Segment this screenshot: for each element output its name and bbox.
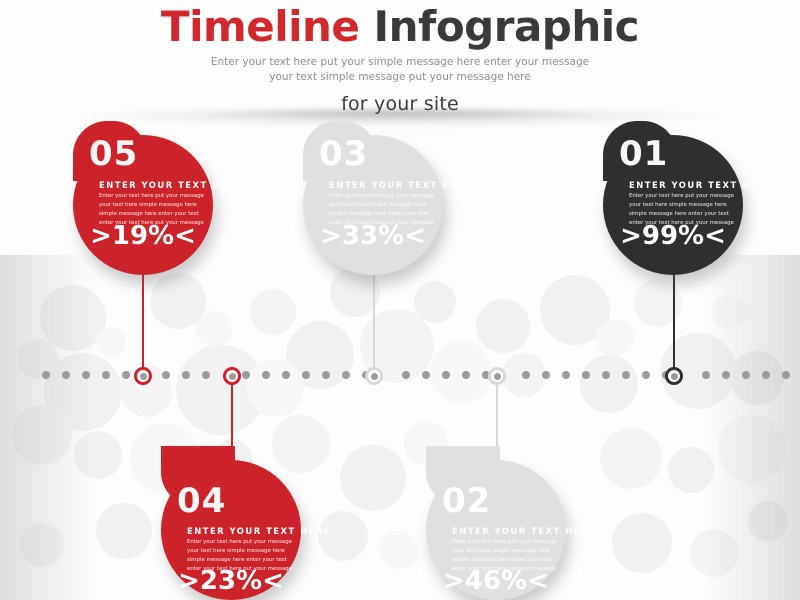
body-line-1: Enter your text here put your message xyxy=(452,538,562,547)
step-bubble-05[interactable]: 05 ENTER YOUR TEXT HERE Enter your text … xyxy=(73,135,213,275)
background-bokeh-pattern xyxy=(0,255,800,600)
timeline-dot xyxy=(202,371,210,379)
connector-line-01 xyxy=(673,270,675,376)
body-line-1: Enter your text here put your message xyxy=(329,192,439,201)
timeline-dot xyxy=(262,371,270,379)
step-percent: >99%< xyxy=(603,223,743,249)
bubble-content: 02 ENTER YOUR TEXT HERE Enter your text … xyxy=(426,460,566,600)
timeline-dot xyxy=(282,371,290,379)
body-line-2: your text here simple message here xyxy=(452,547,562,556)
timeline-marker-01[interactable] xyxy=(665,367,683,385)
step-number: 05 xyxy=(89,137,138,171)
header: Timeline Infographic Enter your text her… xyxy=(0,0,800,120)
timeline-dot xyxy=(122,371,130,379)
timeline-dot xyxy=(602,371,610,379)
timeline-dot xyxy=(722,371,730,379)
timeline-marker-02[interactable] xyxy=(488,367,506,385)
timeline-dot xyxy=(422,371,430,379)
timeline-dot xyxy=(442,371,450,379)
timeline-dot xyxy=(342,371,350,379)
body-line-2: your text here simple message here xyxy=(629,201,739,210)
timeline-dot xyxy=(522,371,530,379)
timeline-dot xyxy=(562,371,570,379)
body-line-3: simple message here enter your text xyxy=(452,556,562,565)
timeline-dot xyxy=(182,371,190,379)
timeline-dot xyxy=(742,371,750,379)
timeline-dot xyxy=(82,371,90,379)
timeline-dot xyxy=(642,371,650,379)
header-tagline: for your site xyxy=(0,93,800,115)
timeline-dot xyxy=(42,371,50,379)
timeline-dot xyxy=(62,371,70,379)
subtitle-line-1: Enter your text here put your simple mes… xyxy=(0,55,800,70)
infographic-canvas: Timeline Infographic Enter your text her… xyxy=(0,0,800,600)
subtitle-line-2: your text simple message put your messag… xyxy=(0,70,800,85)
timeline-dot xyxy=(162,371,170,379)
step-heading: ENTER YOUR TEXT HERE xyxy=(629,180,737,190)
step-heading: ENTER YOUR TEXT HERE xyxy=(329,180,437,190)
body-line-3: simple message here enter your text xyxy=(629,210,739,219)
body-line-1: Enter your text here put your message xyxy=(629,192,739,201)
step-percent: >46%< xyxy=(426,568,566,594)
step-heading: ENTER YOUR TEXT HERE xyxy=(452,526,560,536)
body-line-2: your text here simple message here xyxy=(99,201,209,210)
body-line-2: your text here simple message here xyxy=(187,547,297,556)
body-line-1: Enter your text here put your message xyxy=(187,538,297,547)
timeline-dot xyxy=(402,371,410,379)
title-word-timeline: Timeline xyxy=(161,2,359,51)
timeline-dot xyxy=(102,371,110,379)
timeline-dot xyxy=(462,371,470,379)
step-bubble-02[interactable]: 02 ENTER YOUR TEXT HERE Enter your text … xyxy=(426,460,566,600)
timeline-dot xyxy=(322,371,330,379)
step-number: 03 xyxy=(319,137,368,171)
body-line-2: your text here simple message here xyxy=(329,201,439,210)
body-line-3: simple message here enter your text xyxy=(99,210,209,219)
page-title: Timeline Infographic xyxy=(0,0,800,49)
title-word-infographic: Infographic xyxy=(374,2,640,51)
timeline-dot xyxy=(702,371,710,379)
timeline-marker-05[interactable] xyxy=(134,367,152,385)
timeline-dot xyxy=(762,371,770,379)
header-subtitle: Enter your text here put your simple mes… xyxy=(0,55,800,85)
step-number: 01 xyxy=(619,137,668,171)
body-line-1: Enter your text here put your message xyxy=(99,192,209,201)
right-edge-gradient xyxy=(705,255,800,600)
step-bubble-03[interactable]: 03 ENTER YOUR TEXT HERE Enter your text … xyxy=(303,135,443,275)
timeline-marker-04[interactable] xyxy=(223,367,241,385)
timeline-dot xyxy=(622,371,630,379)
step-number: 04 xyxy=(177,484,226,518)
connector-line-03 xyxy=(373,272,375,376)
step-percent: >23%< xyxy=(161,568,301,594)
body-line-3: simple message here enter your text xyxy=(187,556,297,565)
left-edge-gradient xyxy=(0,255,95,600)
timeline-marker-03[interactable] xyxy=(365,367,383,385)
bubble-content: 04 ENTER YOUR TEXT HERE Enter your text … xyxy=(161,460,301,600)
timeline-dot xyxy=(302,371,310,379)
step-heading: ENTER YOUR TEXT HERE xyxy=(187,526,295,536)
bubble-content: 05 ENTER YOUR TEXT HERE Enter your text … xyxy=(73,135,213,275)
step-bubble-01[interactable]: 01 ENTER YOUR TEXT HERE Enter your text … xyxy=(603,135,743,275)
body-line-3: simple message here enter your text xyxy=(329,210,439,219)
step-heading: ENTER YOUR TEXT HERE xyxy=(99,180,207,190)
bubble-content: 03 ENTER YOUR TEXT HERE Enter your text … xyxy=(303,135,443,275)
step-bubble-04[interactable]: 04 ENTER YOUR TEXT HERE Enter your text … xyxy=(161,460,301,600)
bubble-content: 01 ENTER YOUR TEXT HERE Enter your text … xyxy=(603,135,743,275)
step-number: 02 xyxy=(442,484,491,518)
step-percent: >19%< xyxy=(73,223,213,249)
timeline-dot xyxy=(582,371,590,379)
timeline-dot xyxy=(542,371,550,379)
connector-line-05 xyxy=(142,270,144,376)
timeline-dot xyxy=(782,371,790,379)
timeline-dot xyxy=(242,371,250,379)
step-percent: >33%< xyxy=(303,223,443,249)
